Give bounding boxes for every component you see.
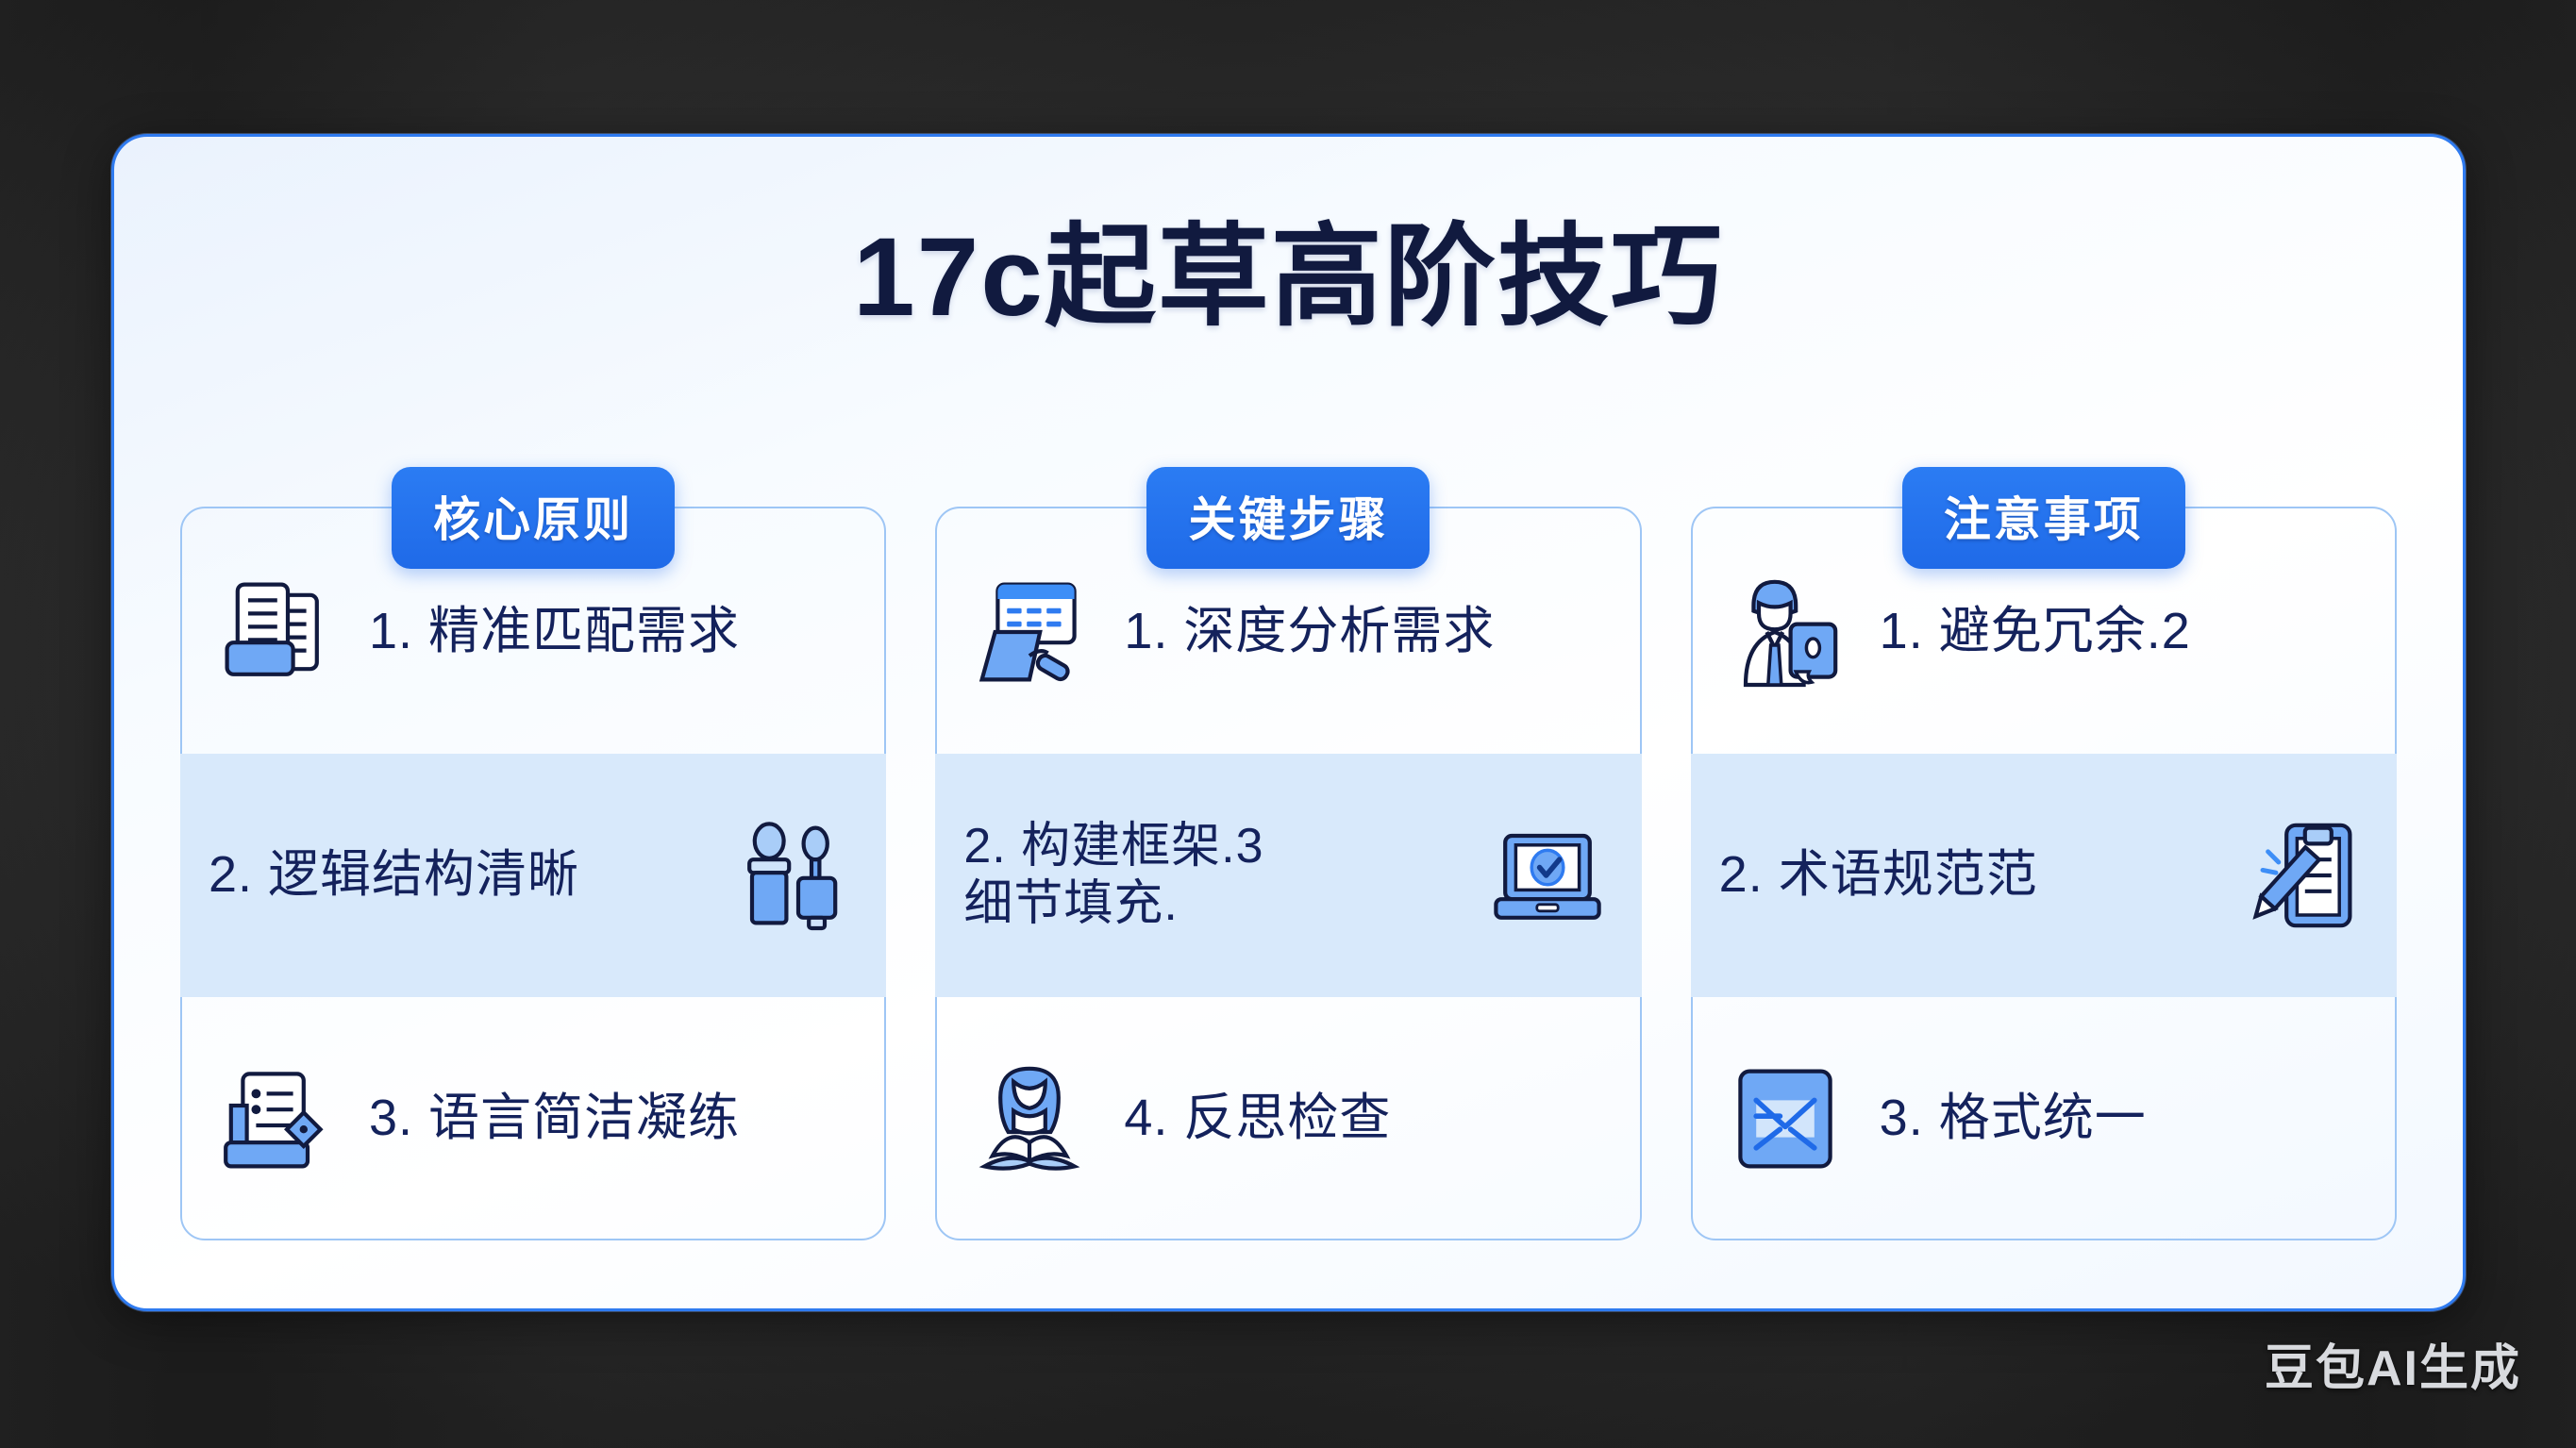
message-icon <box>1719 1053 1851 1185</box>
column-key-steps: 关键步骤 <box>935 467 1641 1240</box>
list-item[interactable]: 4. 反思检查 <box>935 997 1641 1240</box>
laptop-presentation-icon <box>963 566 1096 698</box>
column-rows-precautions: 1. 避免冗余.2 <box>1691 467 2397 1240</box>
person-tablet-icon <box>1719 566 1851 698</box>
column-rows-core-principles: 1. 精准匹配需求 2. 逻辑结构清 <box>180 467 886 1240</box>
list-item-label: 4. 反思检查 <box>1124 1089 1613 1149</box>
list-item-label: 1. 深度分析需求 <box>1124 602 1613 662</box>
infographic-card: 17c起草高阶技巧 核心原则 <box>111 134 2466 1311</box>
list-item-label: 2. 术语规范范 <box>1719 845 2208 906</box>
list-item[interactable]: 2. 构建框架.3细节填充. <box>935 754 1641 997</box>
person-reading-icon <box>963 1053 1096 1185</box>
column-core-principles: 核心原则 <box>180 467 886 1240</box>
list-item[interactable]: 3. 语言简洁凝练 <box>180 997 886 1240</box>
page-title: 17c起草高阶技巧 <box>114 186 2463 347</box>
documents-icon <box>209 566 341 698</box>
laptop-check-icon <box>1481 809 1614 941</box>
column-precautions: 注意事项 <box>1691 467 2397 1240</box>
watermark: 豆包AI生成 <box>2265 1328 2521 1399</box>
columns-container: 核心原则 <box>180 467 2397 1240</box>
list-item-label: 3. 格式统一 <box>1880 1089 2368 1149</box>
clipboard-pencil-icon <box>2236 809 2368 941</box>
list-item-label: 1. 避免冗余.2 <box>1880 602 2368 662</box>
list-item[interactable]: 3. 格式统一 <box>1691 997 2397 1240</box>
people-podium-icon <box>726 809 858 941</box>
column-badge-key-steps[interactable]: 关键步骤 <box>1146 467 1430 569</box>
list-item[interactable]: 2. 逻辑结构清晰 <box>180 754 886 997</box>
list-item[interactable]: 2. 术语规范范 <box>1691 754 2397 997</box>
list-item-label: 3. 语言简洁凝练 <box>369 1089 858 1149</box>
column-badge-precautions[interactable]: 注意事项 <box>1902 467 2185 569</box>
list-item-label: 2. 构建框架.3细节填充. <box>963 818 1452 934</box>
column-rows-key-steps: 1. 深度分析需求 2. 构建框架.3细节填充. <box>935 467 1641 1240</box>
document-tag-icon <box>209 1053 341 1185</box>
column-badge-core-principles[interactable]: 核心原则 <box>392 467 675 569</box>
list-item-label: 2. 逻辑结构清晰 <box>209 845 697 906</box>
list-item-label: 1. 精准匹配需求 <box>369 602 858 662</box>
